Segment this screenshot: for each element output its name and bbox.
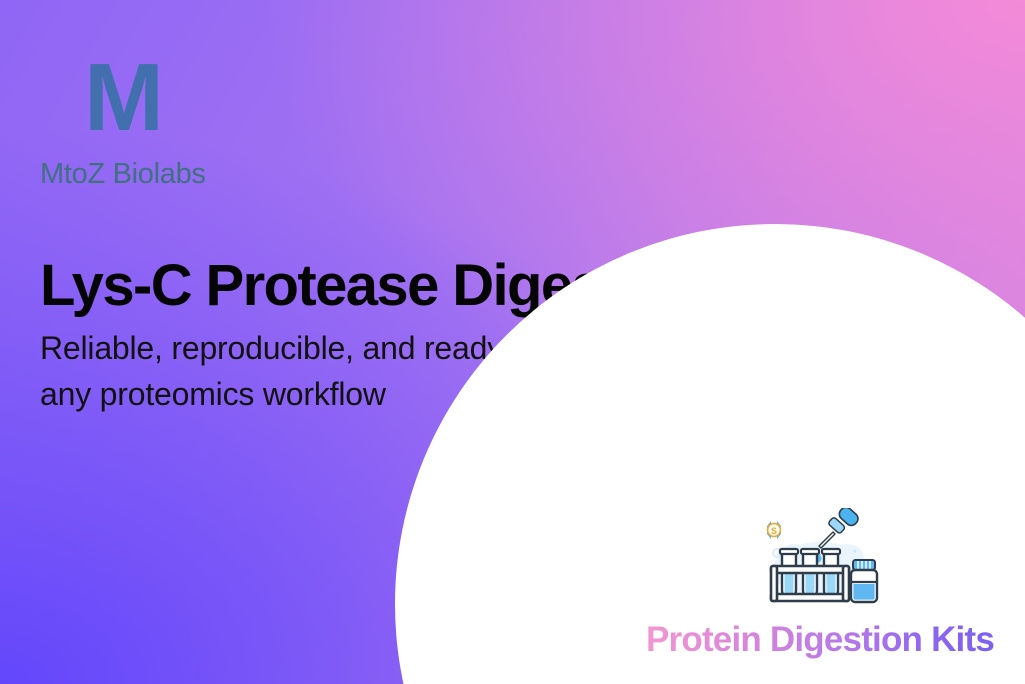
product-badge: S (630, 508, 1010, 660)
reagent-vial-icon (851, 560, 877, 602)
svg-text:S: S (771, 526, 777, 536)
brand-logo-mark: M (40, 52, 340, 148)
brand-name: MtoZ Biolabs (40, 158, 340, 191)
product-category-label: Protein Digestion Kits (630, 620, 1010, 660)
test-tube-rack-dropper-icon: S (755, 508, 885, 612)
brand-logo: M MtoZ Biolabs (40, 52, 340, 191)
test-tube-rack-icon (771, 549, 849, 601)
hero-subtitle-line-1: Reliable, reproducible, and ready for (40, 325, 548, 371)
dropper-icon (819, 508, 860, 548)
molecule-s-icon: S (767, 521, 781, 539)
product-banner: M MtoZ Biolabs Lys-C Protease Digestion … (0, 0, 1025, 684)
